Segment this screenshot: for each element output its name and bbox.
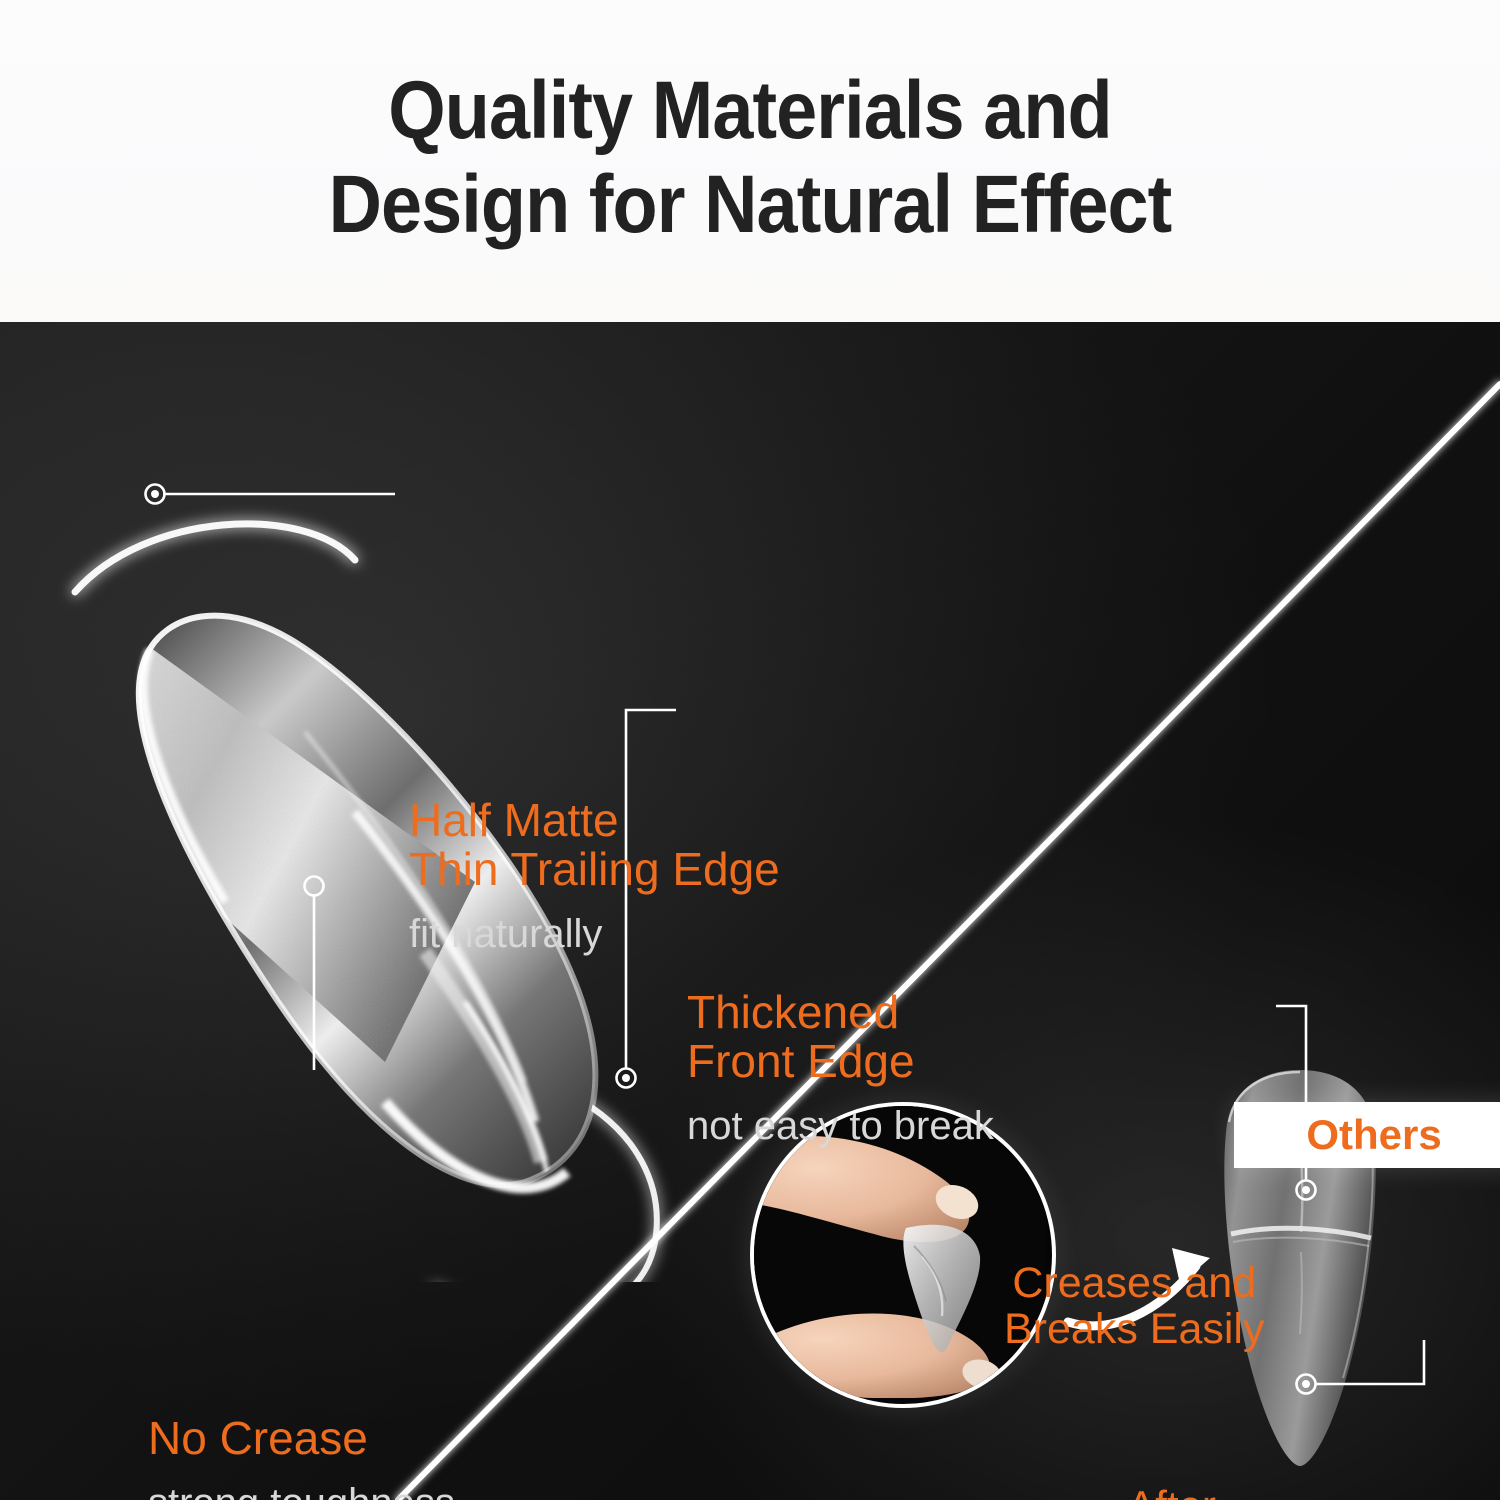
callout-thickened-sub: not easy to break: [687, 1104, 994, 1148]
comparison-stage: Half Matte Thin Trailing Edge fit natura…: [0, 322, 1500, 1500]
header-band: Quality Materials and Design for Natural…: [0, 0, 1500, 322]
page-title: Quality Materials and Design for Natural…: [75, 64, 1425, 253]
callout-no-crease-title: No Crease: [148, 1414, 455, 1463]
callout-half-matte-sub: fit naturally: [409, 912, 780, 956]
callout-half-matte-title: Half Matte Thin Trailing Edge: [409, 796, 780, 894]
callout-thickened-title: Thickened Front Edge: [687, 988, 994, 1086]
callout-after-bend-title: After Bend: [1092, 1483, 1216, 1500]
callout-thickened-front-edge: Thickened Front Edge not easy to break: [687, 988, 994, 1148]
infographic-page: Quality Materials and Design for Natural…: [0, 0, 1500, 1500]
badge-others: Others: [1234, 1102, 1500, 1168]
callout-half-matte: Half Matte Thin Trailing Edge fit natura…: [409, 796, 780, 956]
callout-no-crease: No Crease strong toughness: [148, 1414, 455, 1500]
callout-creases-breaks-easily: Creases and Breaks Easily: [1004, 1260, 1264, 1353]
leader-half-matte: [146, 485, 396, 504]
glow-arc-top: [75, 524, 355, 592]
callout-no-crease-sub: strong toughness: [148, 1481, 455, 1500]
leader-abs: [1297, 1340, 1425, 1394]
callout-after-bend: After Bend: [1092, 1483, 1216, 1500]
glow-arc-bottom: [410, 1072, 657, 1282]
badge-others-label: Others: [1306, 1111, 1441, 1159]
callout-creases-title: Creases and Breaks Easily: [1004, 1260, 1264, 1353]
leader-no-crease: [305, 877, 324, 1071]
